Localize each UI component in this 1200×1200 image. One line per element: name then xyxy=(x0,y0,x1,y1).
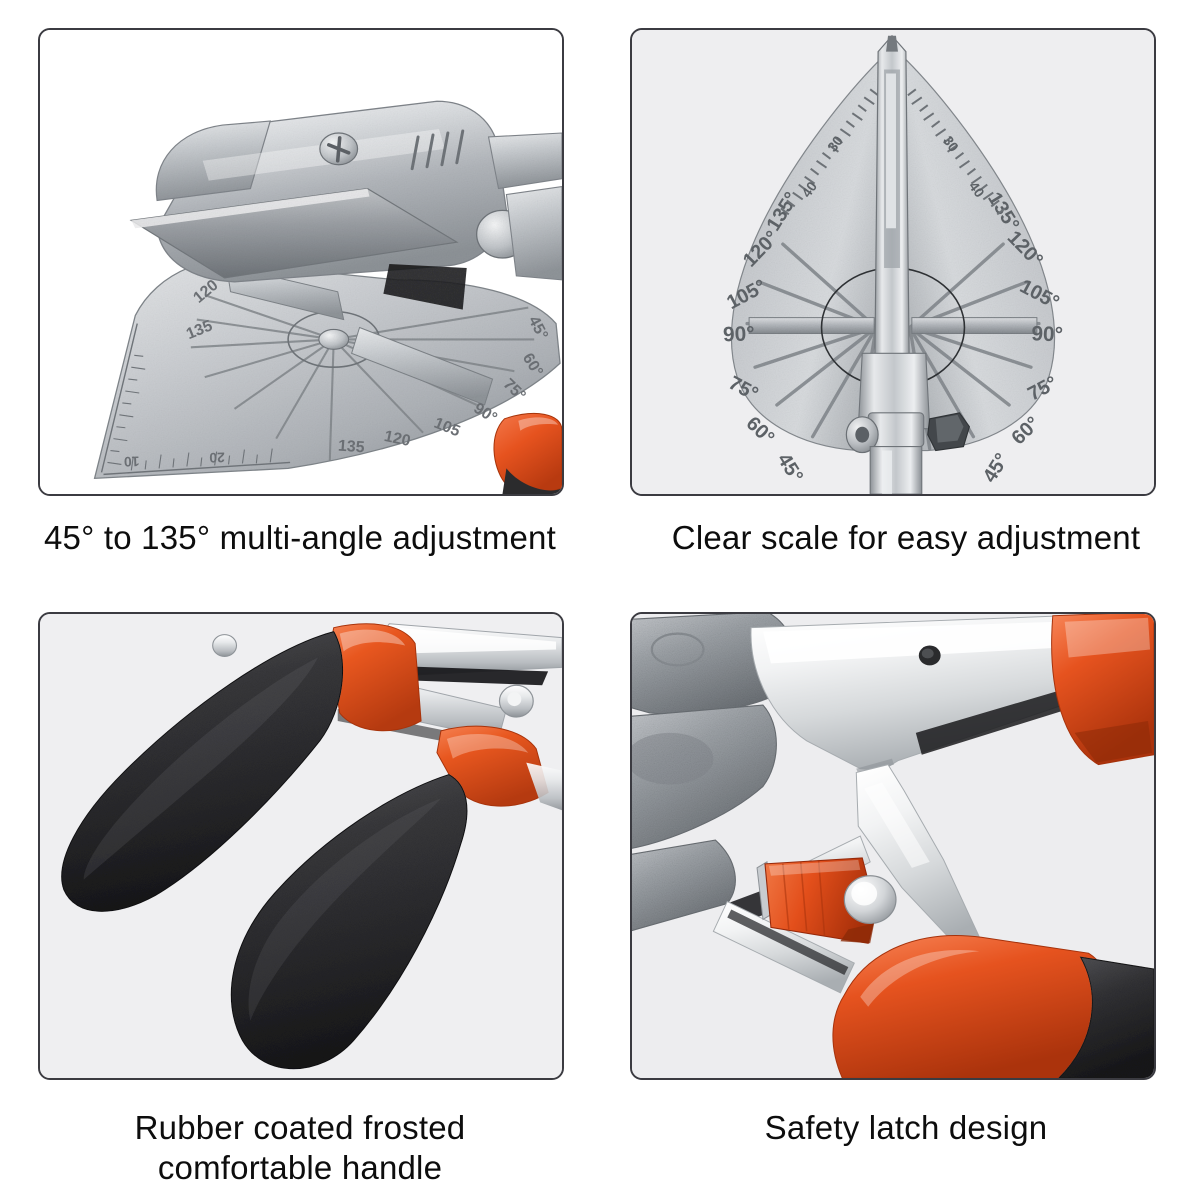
caption-multi-angle-adjustment: 45° to 135° multi-angle adjustment xyxy=(0,518,600,558)
svg-text:90°: 90° xyxy=(723,322,755,346)
shaft xyxy=(870,447,922,494)
product-photo-frame-4 xyxy=(630,612,1156,1080)
pivot-rivet xyxy=(499,685,533,717)
product-photo-frame-2: 135° 120° 105° 90° 75° 60° 45° xyxy=(630,28,1156,496)
feature-cell-multi-angle-adjustment: 105 120 135 45° 60° 75° 90° 105 120 135 xyxy=(0,0,600,600)
caption-safety-latch: Safety latch design xyxy=(626,1108,1186,1148)
product-photo-frame-3 xyxy=(38,612,564,1080)
svg-text:20: 20 xyxy=(209,450,225,467)
product-photo-frame-1: 105 120 135 45° 60° 75° 90° 105 120 135 xyxy=(38,28,564,496)
orange-accent-band-upper xyxy=(330,624,421,731)
locking-pin xyxy=(844,876,896,924)
caption-rubber-handle: Rubber coated frosted comfortable handle xyxy=(0,1108,600,1188)
caption-clear-scale: Clear scale for easy adjustment xyxy=(626,518,1186,558)
svg-text:135: 135 xyxy=(337,438,365,457)
feature-cell-rubber-handle: Rubber coated frosted comfortable handle xyxy=(0,600,600,1200)
rivet-hole xyxy=(919,646,941,666)
feature-cell-clear-scale: 135° 120° 105° 90° 75° 60° 45° xyxy=(600,0,1200,600)
feature-cell-safety-latch: Safety latch design xyxy=(600,600,1200,1200)
svg-text:10: 10 xyxy=(123,454,139,471)
product-photo-multi-angle-adjustment: 105 120 135 45° 60° 75° 90° 105 120 135 xyxy=(40,30,562,494)
screw xyxy=(320,133,358,165)
product-photo-safety-latch xyxy=(632,614,1154,1078)
product-photo-rubber-handle xyxy=(40,614,562,1078)
svg-text:90°: 90° xyxy=(1031,322,1063,346)
feature-grid-page: 105 120 135 45° 60° 75° 90° 105 120 135 xyxy=(0,0,1200,1200)
orange-handle-grip xyxy=(494,413,562,494)
pivot-rivet-secondary xyxy=(213,635,237,657)
product-photo-clear-scale: 135° 120° 105° 90° 75° 60° 45° xyxy=(632,30,1154,494)
